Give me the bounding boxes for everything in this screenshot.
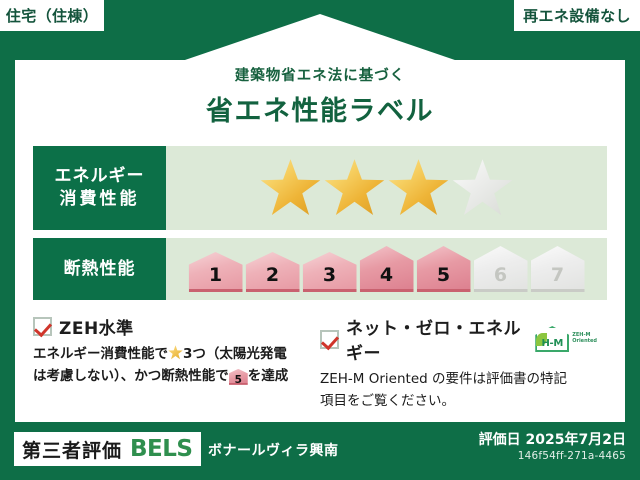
bels-badge: 第三者評価 BELS — [14, 432, 201, 466]
house-badge-3: 3 — [303, 252, 357, 292]
row-energy-value — [166, 146, 607, 230]
zeh-title: ZEH水準 — [59, 314, 134, 339]
star-rating — [260, 158, 514, 218]
row-insulation-value: 1 2 3 4 — [166, 238, 607, 300]
bels-label-jp: 第三者評価 — [22, 436, 122, 463]
zeh-body-part2: は考慮しない）、かつ断熱性能で — [33, 368, 229, 384]
nzeb-body-line2: 項目をご覧ください。 — [320, 393, 455, 409]
star-icon-3 — [388, 158, 450, 218]
row-energy-performance: エネルギー 消費性能 — [33, 146, 607, 230]
house-badge-5-num: 5 — [437, 266, 450, 292]
house-badge-inline: 5 — [229, 369, 248, 385]
row-energy-label-line2: 消費性能 — [60, 188, 140, 211]
nzeb-body-line1: ZEH-M Oriented の要件は評価書の特記 — [320, 371, 567, 387]
info-block-nzeb: ネット・ゼロ・エネルギー H-M ZEH-M Oriented — [320, 314, 607, 413]
tag-renewable-energy: 再エネ設備なし — [512, 0, 640, 33]
footer-band: 第三者評価 BELS ボナールヴィラ興南 評価日 2025年7月2日 146f5… — [0, 422, 640, 480]
row-energy-label-line1: エネルギー — [55, 165, 145, 188]
house-badge-6: 6 — [474, 246, 528, 292]
star-icon-1 — [260, 158, 322, 218]
check-icon-nzeb — [320, 330, 339, 349]
zeh-body-star-count: 3つ（太陽光発電 — [183, 346, 287, 362]
title-subtitle: 建築物省エネ法に基づく — [15, 64, 625, 85]
evaluation-id: 146f54ff-271a-4465 — [518, 450, 626, 462]
zeh-body-part1: エネルギー消費性能で — [33, 346, 168, 362]
rating-rows: エネルギー 消費性能 断熱性能 — [33, 146, 607, 300]
zeh-m-logo-caption: ZEH-M Oriented — [572, 333, 597, 345]
page-title: 省エネ性能ラベル — [15, 89, 625, 128]
insulation-scale: 1 2 3 4 — [189, 246, 585, 292]
check-icon-zeh — [33, 317, 52, 336]
info-blocks: ZEH水準 エネルギー消費性能で3つ（太陽光発電 は考慮しない）、かつ断熱性能で… — [33, 314, 607, 413]
house-badge-6-num: 6 — [494, 266, 507, 292]
row-insulation-performance: 断熱性能 1 2 3 — [33, 238, 607, 300]
zeh-body: エネルギー消費性能で3つ（太陽光発電 は考慮しない）、かつ断熱性能で5を達成 — [33, 344, 310, 388]
star-icon-inline — [168, 345, 183, 360]
info-block-zeh: ZEH水準 エネルギー消費性能で3つ（太陽光発電 は考慮しない）、かつ断熱性能で… — [33, 314, 320, 413]
house-badge-3-num: 3 — [323, 266, 336, 292]
building-name: ボナールヴィラ興南 — [208, 440, 339, 460]
zeh-heading: ZEH水準 — [33, 314, 310, 339]
nzeb-heading: ネット・ゼロ・エネルギー H-M ZEH-M Oriented — [320, 314, 597, 364]
house-badge-1-num: 1 — [209, 266, 222, 292]
title-block: 建築物省エネ法に基づく 省エネ性能ラベル — [15, 60, 625, 128]
nzeb-body: ZEH-M Oriented の要件は評価書の特記 項目をご覧ください。 — [320, 369, 597, 413]
bels-label-en: BELS — [130, 436, 192, 462]
star-icon-4 — [452, 158, 514, 218]
house-badge-7: 7 — [531, 246, 585, 292]
house-badge-2-num: 2 — [266, 266, 279, 292]
house-badge-4: 4 — [360, 246, 414, 292]
zeh-m-logo-text: H-M — [535, 338, 569, 349]
star-icon-2 — [324, 158, 386, 218]
tag-building-type: 住宅（住棟） — [0, 0, 106, 33]
evaluation-date: 評価日 2025年7月2日 — [479, 429, 626, 449]
label-body: 建築物省エネ法に基づく 省エネ性能ラベル エネルギー 消費性能 — [15, 60, 625, 422]
house-logo-icon: H-M — [535, 326, 569, 352]
house-badge-5: 5 — [417, 246, 471, 292]
house-badge-inline-num: 5 — [235, 374, 242, 386]
nzeb-title: ネット・ゼロ・エネルギー — [346, 314, 526, 364]
energy-label-root: 住宅（住棟） 再エネ設備なし 建築物省エネ法に基づく 省エネ性能ラベル エネルギ… — [0, 0, 640, 480]
house-badge-4-num: 4 — [380, 266, 393, 292]
row-energy-label: エネルギー 消費性能 — [33, 146, 166, 230]
zeh-body-part3: を達成 — [248, 368, 289, 384]
row-insulation-label: 断熱性能 — [33, 238, 166, 300]
zeh-m-logo: H-M ZEH-M Oriented — [535, 326, 597, 352]
house-badge-1: 1 — [189, 252, 243, 292]
house-badge-7-num: 7 — [551, 266, 564, 292]
house-badge-2: 2 — [246, 252, 300, 292]
zeh-m-caption-line2: Oriented — [572, 338, 597, 344]
